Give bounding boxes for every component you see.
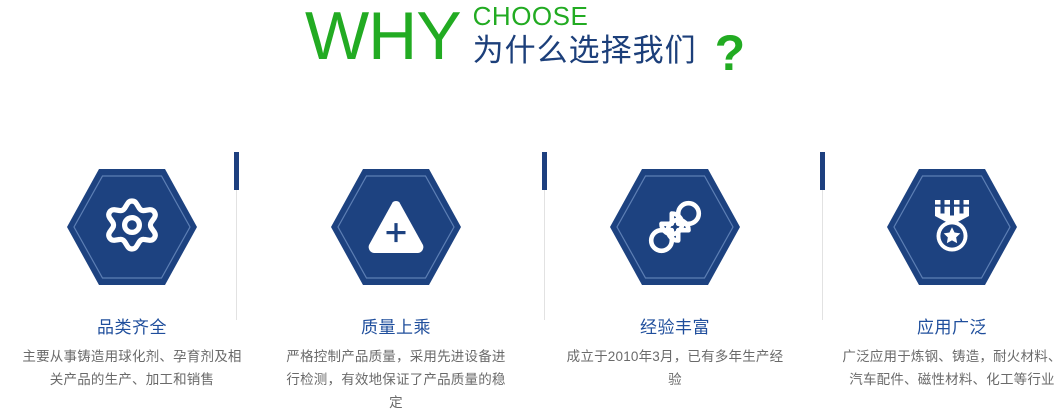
feature-title: 质量上乘 bbox=[264, 318, 528, 338]
feature-column-2[interactable]: 质量上乘 严格控制产品质量，采用先进设备进行检测，有效地保证了产品质量的稳定 bbox=[264, 140, 528, 416]
hexagon-badge[interactable] bbox=[66, 168, 198, 286]
four-petal-clover-icon bbox=[609, 168, 741, 286]
feature-title: 应用广泛 bbox=[820, 318, 1055, 338]
feature-column-1[interactable]: 品类齐全 主要从事铸造用球化剂、孕育剂及相关产品的生产、加工和销售 bbox=[0, 140, 264, 416]
header-why-word: WHY bbox=[305, 2, 461, 70]
triangle-plus-icon bbox=[330, 168, 462, 286]
feature-title: 品类齐全 bbox=[0, 318, 264, 338]
header-chinese-row: 为什么选择我们 ? bbox=[473, 31, 746, 71]
hexagon-badge[interactable] bbox=[886, 168, 1018, 286]
feature-body: 主要从事铸造用球化剂、孕育剂及相关产品的生产、加工和销售 bbox=[22, 345, 242, 391]
feature-title: 经验丰富 bbox=[543, 318, 807, 338]
medal-icon bbox=[886, 168, 1018, 286]
header-chinese-title: 为什么选择我们 bbox=[473, 33, 697, 69]
gear-icon bbox=[66, 168, 198, 286]
feature-body: 成立于2010年3月，已有多年生产经验 bbox=[565, 345, 785, 391]
header-inner: WHY CHOOSE 为什么选择我们 ? bbox=[305, 0, 745, 71]
feature-body: 严格控制产品质量，采用先进设备进行检测，有效地保证了产品质量的稳定 bbox=[286, 345, 506, 414]
header-text-stack: CHOOSE 为什么选择我们 ? bbox=[473, 2, 746, 71]
header-choose-word: CHOOSE bbox=[473, 2, 746, 30]
hexagon-badge[interactable] bbox=[609, 168, 741, 286]
feature-body: 广泛应用于炼钢、铸造，耐火材料、汽车配件、磁性材料、化工等行业 bbox=[842, 345, 1055, 391]
page-header: WHY CHOOSE 为什么选择我们 ? bbox=[0, 0, 1055, 90]
feature-column-4[interactable]: 应用广泛 广泛应用于炼钢、铸造，耐火材料、汽车配件、磁性材料、化工等行业 bbox=[820, 140, 1055, 416]
feature-column-3[interactable]: 经验丰富 成立于2010年3月，已有多年生产经验 bbox=[543, 140, 807, 416]
feature-columns: 品类齐全 主要从事铸造用球化剂、孕育剂及相关产品的生产、加工和销售 质量上乘 严… bbox=[0, 140, 1055, 416]
header-question-mark: ? bbox=[715, 33, 746, 73]
hexagon-badge[interactable] bbox=[330, 168, 462, 286]
